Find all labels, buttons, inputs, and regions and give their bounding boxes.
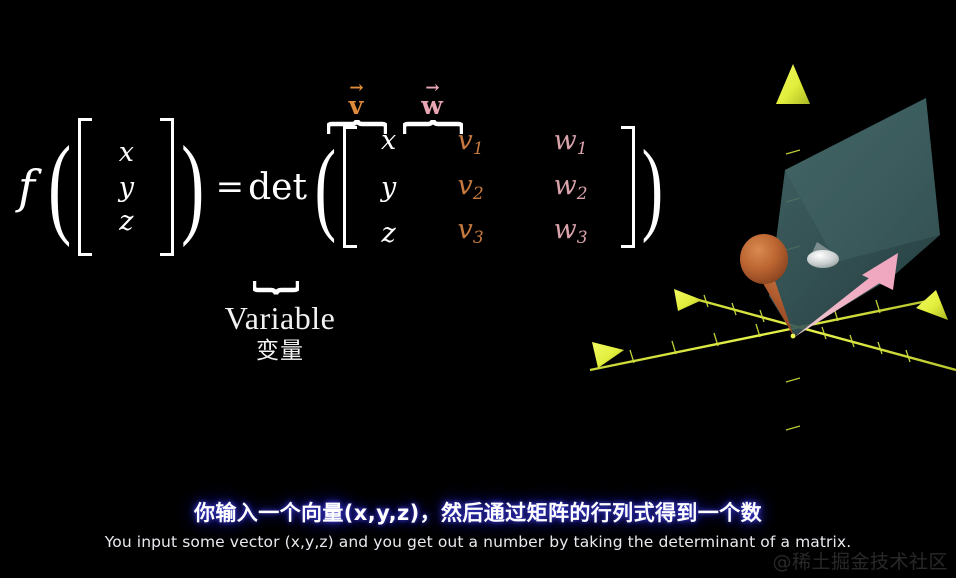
formula-block: f ( x y z ) = det ( x y z v1 v2 v3 — [0, 30, 560, 350]
axis-y-arrowhead-icon — [674, 289, 702, 311]
matrix-cell-z: z — [361, 220, 417, 247]
video-frame: f ( x y z ) = det ( x y z v1 v2 v3 — [0, 0, 956, 578]
column-label-w: → w — [406, 84, 458, 118]
vector-symbol-w: w — [421, 91, 443, 120]
matrix-cell-v2: v2 — [425, 172, 517, 203]
right-paren-outer: ) — [181, 141, 204, 233]
overbrace-v-icon — [327, 120, 387, 135]
input-vector-entry-x: x — [98, 139, 154, 166]
subtitle-block: 你输入一个向量(x,y,z)，然后通过矩阵的行列式得到一个数 You input… — [0, 500, 956, 551]
matrix-left-paren: ( — [315, 144, 336, 229]
underbrace-variable-icon — [253, 280, 299, 295]
watermark: @稀土掘金技术社区 — [772, 547, 948, 574]
left-paren-outer: ( — [48, 141, 71, 233]
input-vector-column: x y z — [92, 139, 160, 235]
column-label-v: → v — [330, 84, 382, 118]
matrix-cell-y: y — [361, 174, 417, 201]
matrix-column-variable: x y z — [357, 127, 421, 247]
3d-vector-plot — [586, 50, 956, 470]
variable-label-zh: 变量 — [190, 336, 370, 367]
matrix-left-bracket — [343, 126, 357, 248]
function-symbol-f: f — [18, 164, 35, 210]
vector-v-cone-icon — [740, 234, 788, 284]
axis-x-arrowhead-right-icon — [916, 290, 948, 320]
axis-x — [590, 290, 948, 370]
variable-annotation: Variable 变量 — [190, 302, 370, 367]
origin-point — [791, 334, 796, 339]
overbrace-w-icon — [403, 120, 463, 135]
vector-symbol-v: v — [349, 91, 364, 120]
subtitle-chinese: 你输入一个向量(x,y,z)，然后通过矩阵的行列式得到一个数 — [0, 500, 956, 526]
variable-label-en: Variable — [190, 302, 370, 336]
equals-sign: = — [216, 167, 245, 207]
white-cone-icon — [807, 250, 839, 268]
det-label: det — [248, 167, 307, 208]
matrix-cell-v3: v3 — [425, 216, 517, 247]
input-vector-entry-y: y — [98, 174, 154, 201]
input-vector-entry-z: z — [98, 208, 154, 235]
axis-z-arrowhead-icon — [776, 64, 810, 104]
matrix-column-v: v1 v2 v3 — [421, 127, 521, 247]
input-vector-right-bracket — [160, 118, 174, 256]
input-vector-left-bracket — [78, 118, 92, 256]
